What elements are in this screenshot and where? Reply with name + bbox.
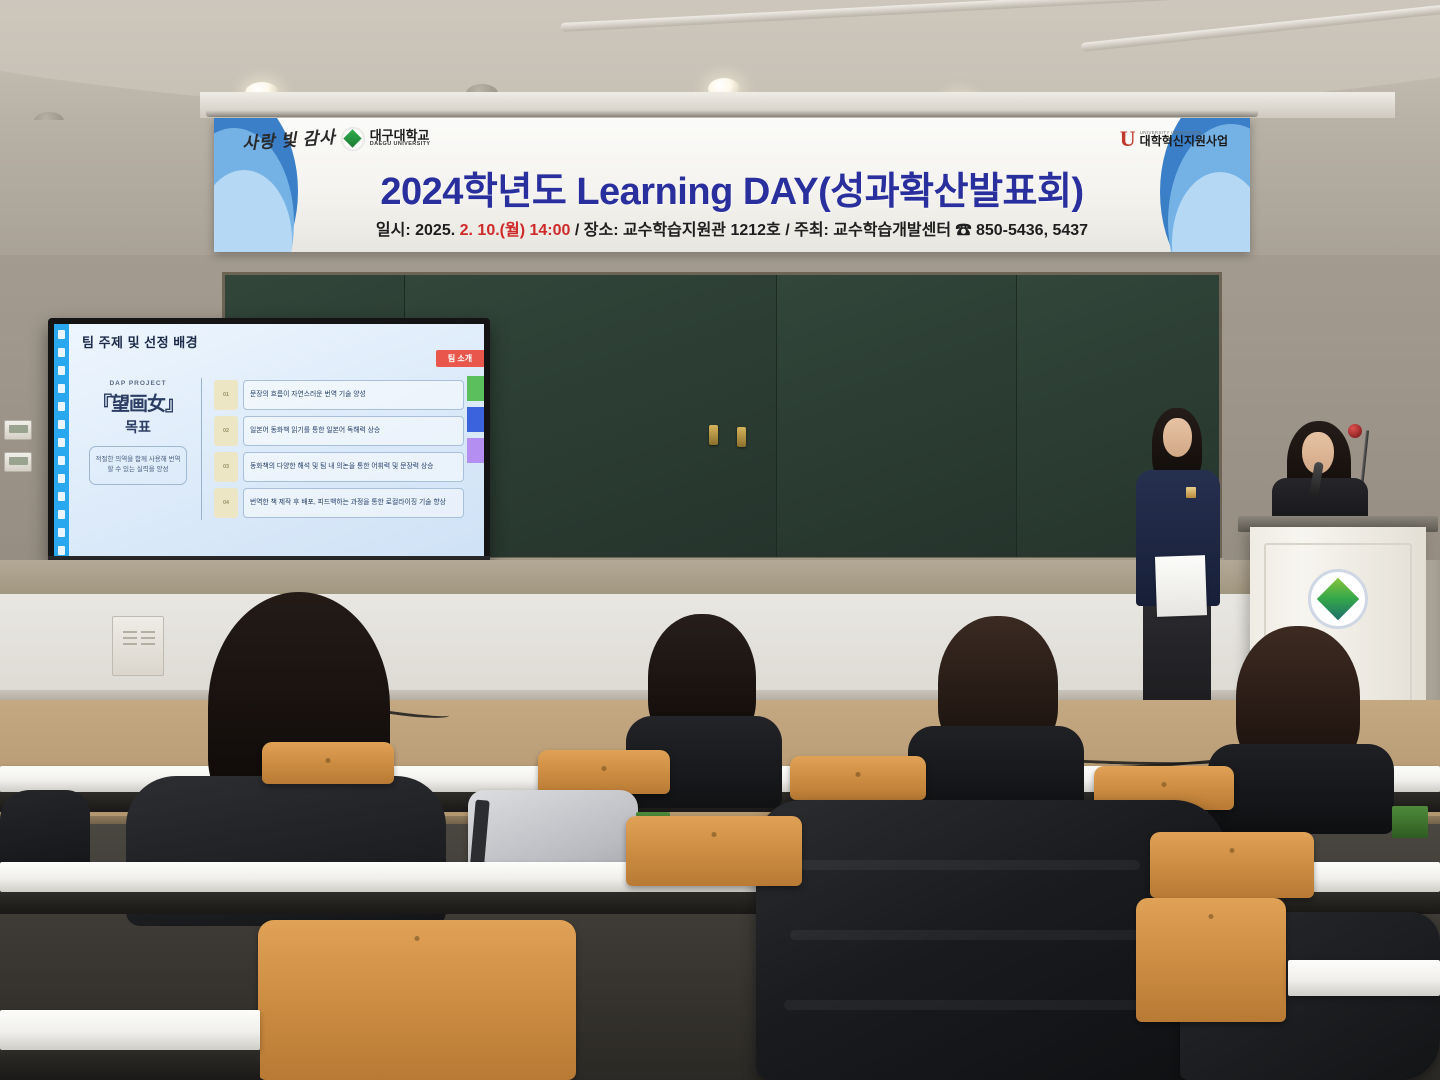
slide-filmstrip-decoration <box>54 324 69 558</box>
program-logo-text: UNIVERSITY INNOVATION 대학혁신지원사업 <box>1140 131 1228 148</box>
ui-mark-icon: U <box>1120 128 1136 150</box>
slide-left-panel: DAP PROJECT 『望画女』 목표 적절한 의역을 함께 사용해 번역할 … <box>80 380 196 485</box>
desk-row-near-right <box>1288 960 1440 996</box>
slide-bullet-text: 일본어 동화책 읽기를 통한 일본어 독해력 상승 <box>243 416 464 446</box>
daegu-university-seal-icon <box>1308 569 1368 629</box>
slide-bullet-text: 문장의 흐름이 자연스러운 번역 기술 양성 <box>243 380 464 410</box>
diamond-shape <box>344 129 362 147</box>
chalkboard-handle[interactable] <box>737 427 746 447</box>
puffer-seam <box>800 860 1140 870</box>
slide-divider <box>201 378 202 520</box>
calligraphy-slogan: 사랑 빛 감사 <box>241 123 336 154</box>
slide-side-tab-blue[interactable] <box>467 407 484 432</box>
desk-row-near-left <box>0 1010 260 1050</box>
seal-diamond <box>1317 578 1359 620</box>
lecture-chair[interactable] <box>538 750 670 794</box>
banner-rod <box>206 110 1258 117</box>
university-name-en: DAEGU UNIVERSITY <box>370 142 431 148</box>
puffer-seam <box>784 1000 1144 1010</box>
program-logo-kr: 대학혁신지원사업 <box>1140 135 1228 147</box>
wall-band-tan <box>0 560 1440 594</box>
presenter-face <box>1163 418 1192 457</box>
university-logo: 사랑 빛 감사 대구대학교 DAEGU UNIVERSITY <box>242 126 431 151</box>
lecture-chair[interactable] <box>1150 832 1314 898</box>
desk-row-near-underside <box>0 1050 260 1080</box>
presentation-display: 팀 주제 및 선정 배경 팀 소개 DAP PROJECT 『望画女』 목표 적… <box>48 318 490 564</box>
banner-place: / 장소: 교수학습지원관 1212호 / 주최: 교수학습개발센터 ☎ 850… <box>575 222 1088 239</box>
slide-bullet-row: 03 동화책의 다양한 해석 및 팀 내 의논을 통한 어휘력 및 문장력 상승 <box>214 452 464 482</box>
wall-thermostat[interactable] <box>4 420 32 440</box>
green-notebook[interactable] <box>1392 806 1428 838</box>
puffer-seam <box>790 930 1150 940</box>
lecture-chair[interactable] <box>1136 898 1286 1022</box>
slide-bullet-row: 01 문장의 흐름이 자연스러운 번역 기술 양성 <box>214 380 464 410</box>
slide-title: 팀 주제 및 선정 배경 <box>82 332 198 351</box>
slide-bullet-number: 01 <box>214 380 238 410</box>
slide-bullet-text: 동화책의 다양한 해석 및 팀 내 의논을 통한 어휘력 및 문장력 상승 <box>243 452 464 482</box>
slide-bullet-text: 번역한 책 제작 후 배포, 피드백하는 과정을 통한 로컬라이징 기술 향상 <box>243 488 464 518</box>
banner-date-label: 일시: 2025. <box>376 222 455 239</box>
wall-outlet-panel[interactable] <box>112 616 164 676</box>
slide-bullet-row: 04 번역한 책 제작 후 배포, 피드백하는 과정을 통한 로컬라이징 기술 … <box>214 488 464 518</box>
lecture-chair[interactable] <box>626 816 802 886</box>
slide-bullet-number: 03 <box>214 452 238 482</box>
wall-thermostat[interactable] <box>4 452 32 472</box>
slide-bullet-number: 02 <box>214 416 238 446</box>
slide-eyebrow: DAP PROJECT <box>80 380 196 387</box>
slide-tab-team-intro[interactable]: 팀 소개 <box>436 350 484 367</box>
audience-coat <box>1208 744 1394 834</box>
chalkboard-handle[interactable] <box>709 425 718 445</box>
slide-bullet-number: 04 <box>214 488 238 518</box>
slide-project-name: 『望画女』 <box>80 389 196 416</box>
microphone-head-icon <box>1348 424 1362 438</box>
banner-title: 2024학년도 Learning DAY(성과확산발표회) <box>214 160 1250 215</box>
event-banner: 사랑 빛 감사 대구대학교 DAEGU UNIVERSITY U UNIVERS… <box>214 118 1250 252</box>
banner-date-highlight: 2. 10.(월) 14:00 <box>460 222 571 239</box>
university-name: 대구대학교 DAEGU UNIVERSITY <box>370 129 431 148</box>
presenter-script-papers <box>1155 555 1207 617</box>
slide-side-tab-purple[interactable] <box>467 438 484 463</box>
chalkboard-panel <box>777 275 1017 557</box>
lecture-hall-photo: 사랑 빛 감사 대구대학교 DAEGU UNIVERSITY U UNIVERS… <box>0 0 1440 1080</box>
slide-content: 팀 주제 및 선정 배경 팀 소개 DAP PROJECT 『望画女』 목표 적… <box>54 324 484 558</box>
program-logo: U UNIVERSITY INNOVATION 대학혁신지원사업 <box>1120 128 1228 150</box>
slide-goal-text: 적절한 의역을 함께 사용해 번역할 수 있는 실력을 양성 <box>89 446 187 485</box>
lecture-chair-foreground[interactable] <box>258 920 576 1080</box>
daegu-university-diamond-logo-icon <box>341 127 365 151</box>
slide-bullet-row: 02 일본어 동화책 읽기를 통한 일본어 독해력 상승 <box>214 416 464 446</box>
lecture-chair[interactable] <box>262 742 394 784</box>
presenter-name-badge <box>1186 487 1196 498</box>
lecture-chair[interactable] <box>790 756 926 800</box>
slide-bullet-list: 01 문장의 흐름이 자연스러운 번역 기술 양성 02 일본어 동화책 읽기를… <box>214 380 464 524</box>
slide-goal-label: 목표 <box>80 417 196 437</box>
slide-side-tab-green[interactable] <box>467 376 484 401</box>
banner-subtitle: 일시: 2025. 2. 10.(월) 14:00 / 장소: 교수학습지원관 … <box>214 216 1250 240</box>
